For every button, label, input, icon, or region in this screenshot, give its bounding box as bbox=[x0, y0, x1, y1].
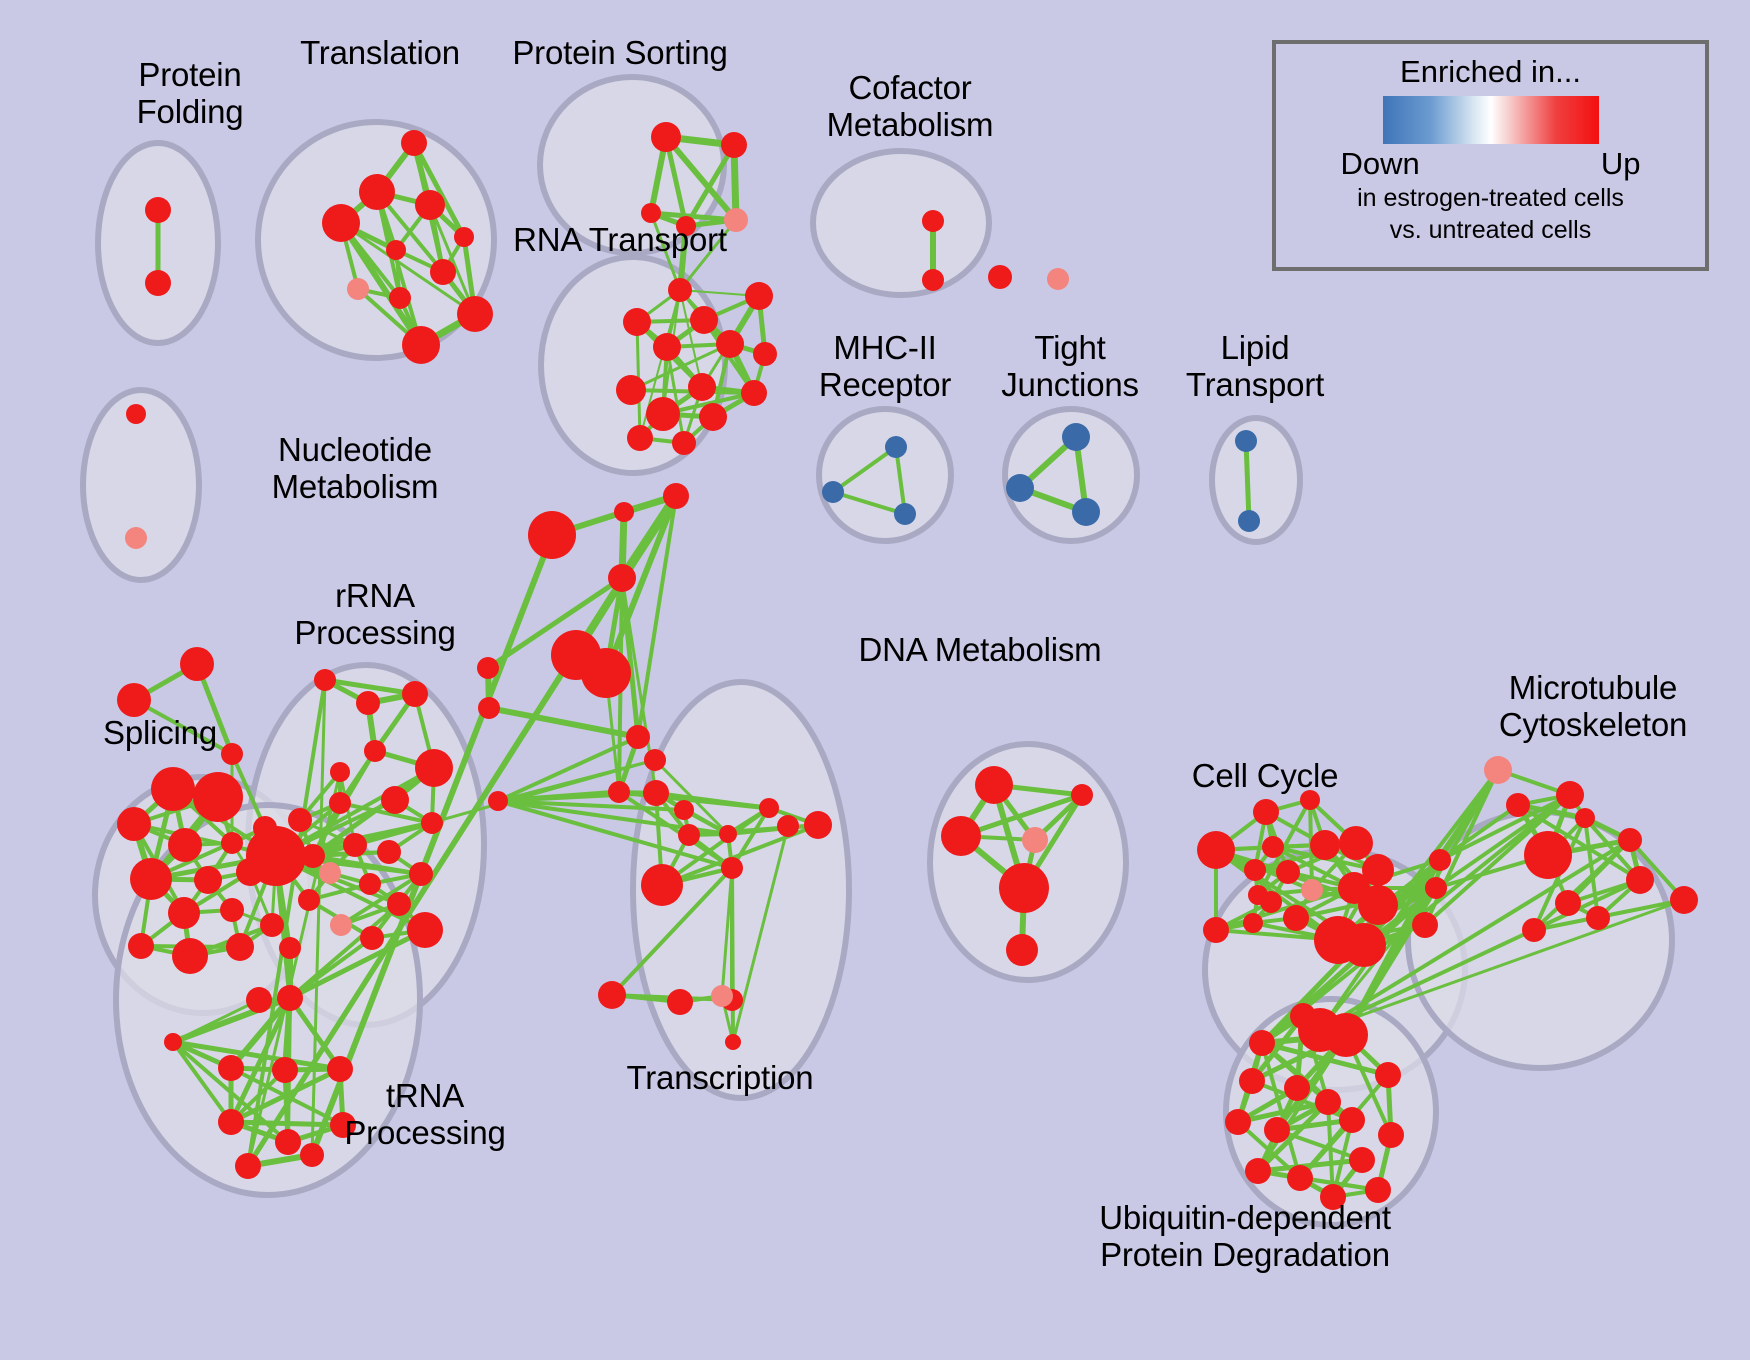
network-node[interactable] bbox=[220, 898, 244, 922]
network-node[interactable] bbox=[145, 197, 171, 223]
network-edge bbox=[489, 708, 638, 737]
network-node[interactable] bbox=[999, 863, 1049, 913]
network-node[interactable] bbox=[1006, 474, 1034, 502]
network-node[interactable] bbox=[1484, 756, 1512, 784]
network-node[interactable] bbox=[1412, 912, 1438, 938]
network-node[interactable] bbox=[421, 812, 443, 834]
network-node[interactable] bbox=[1239, 1068, 1265, 1094]
legend-up-label: Up bbox=[1601, 146, 1641, 182]
network-node[interactable] bbox=[1349, 1147, 1375, 1173]
network-node[interactable] bbox=[1203, 917, 1229, 943]
network-node[interactable] bbox=[300, 1143, 324, 1167]
network-node[interactable] bbox=[623, 308, 651, 336]
network-node[interactable] bbox=[690, 306, 718, 334]
network-node[interactable] bbox=[646, 397, 680, 431]
network-node[interactable] bbox=[1290, 1003, 1316, 1029]
network-node[interactable] bbox=[1524, 831, 1572, 879]
network-node[interactable] bbox=[168, 897, 200, 929]
network-node[interactable] bbox=[777, 815, 799, 837]
network-node[interactable] bbox=[314, 669, 336, 691]
network-node[interactable] bbox=[651, 122, 681, 152]
legend-endpoints: Down Up bbox=[1341, 146, 1641, 182]
network-node[interactable] bbox=[330, 762, 350, 782]
network-node[interactable] bbox=[330, 1112, 356, 1138]
network-node[interactable] bbox=[922, 210, 944, 232]
network-node[interactable] bbox=[1022, 827, 1048, 853]
network-node[interactable] bbox=[193, 772, 243, 822]
network-node[interactable] bbox=[1618, 828, 1642, 852]
network-node[interactable] bbox=[716, 330, 744, 358]
network-node[interactable] bbox=[172, 938, 208, 974]
network-node[interactable] bbox=[1555, 890, 1581, 916]
network-node[interactable] bbox=[804, 811, 832, 839]
network-node[interactable] bbox=[1556, 781, 1584, 809]
network-node[interactable] bbox=[941, 816, 981, 856]
network-node[interactable] bbox=[644, 749, 666, 771]
legend-title: Enriched in... bbox=[1400, 54, 1581, 90]
network-node[interactable] bbox=[741, 380, 767, 406]
network-node[interactable] bbox=[288, 808, 312, 832]
network-node[interactable] bbox=[1506, 793, 1530, 817]
network-node[interactable] bbox=[1358, 885, 1398, 925]
network-node[interactable] bbox=[581, 648, 631, 698]
network-node[interactable] bbox=[641, 203, 661, 223]
network-node[interactable] bbox=[221, 832, 243, 854]
network-node[interactable] bbox=[360, 926, 384, 950]
network-node[interactable] bbox=[663, 483, 689, 509]
network-node[interactable] bbox=[711, 985, 733, 1007]
legend-caption-line-1: in estrogen-treated cells bbox=[1357, 184, 1624, 214]
network-node[interactable] bbox=[885, 436, 907, 458]
network-node[interactable] bbox=[415, 749, 453, 787]
network-node[interactable] bbox=[668, 278, 692, 302]
legend-down-label: Down bbox=[1341, 146, 1420, 182]
network-node[interactable] bbox=[387, 892, 411, 916]
network-node[interactable] bbox=[407, 912, 443, 948]
legend-panel: Enriched in... Down Up in estrogen-treat… bbox=[1272, 40, 1709, 271]
network-edge bbox=[1246, 441, 1249, 521]
network-node[interactable] bbox=[1310, 830, 1340, 860]
network-node[interactable] bbox=[1425, 877, 1447, 899]
network-node[interactable] bbox=[381, 786, 409, 814]
network-node[interactable] bbox=[1378, 1122, 1404, 1148]
network-node[interactable] bbox=[168, 828, 202, 862]
network-node[interactable] bbox=[598, 981, 626, 1009]
network-node[interactable] bbox=[218, 1055, 244, 1081]
network-node[interactable] bbox=[478, 697, 500, 719]
network-node[interactable] bbox=[327, 1056, 353, 1082]
network-node[interactable] bbox=[1238, 510, 1260, 532]
network-node[interactable] bbox=[329, 792, 351, 814]
network-node[interactable] bbox=[975, 766, 1013, 804]
network-node[interactable] bbox=[1342, 923, 1386, 967]
network-node[interactable] bbox=[1315, 1089, 1341, 1115]
network-node[interactable] bbox=[1062, 423, 1090, 451]
network-node[interactable] bbox=[1300, 790, 1320, 810]
network-node[interactable] bbox=[608, 564, 636, 592]
network-node[interactable] bbox=[1301, 879, 1323, 901]
network-node[interactable] bbox=[347, 278, 369, 300]
network-node[interactable] bbox=[699, 403, 727, 431]
network-node[interactable] bbox=[1047, 268, 1069, 290]
network-node[interactable] bbox=[653, 333, 681, 361]
network-node[interactable] bbox=[298, 889, 320, 911]
network-node[interactable] bbox=[1006, 934, 1038, 966]
network-node[interactable] bbox=[1245, 1158, 1271, 1184]
network-node[interactable] bbox=[1260, 891, 1282, 913]
network-node[interactable] bbox=[356, 691, 380, 715]
network-node[interactable] bbox=[643, 780, 669, 806]
network-node[interactable] bbox=[1522, 918, 1546, 942]
network-node[interactable] bbox=[272, 1057, 298, 1083]
network-node[interactable] bbox=[218, 1109, 244, 1135]
network-node[interactable] bbox=[415, 190, 445, 220]
network-node[interactable] bbox=[454, 227, 474, 247]
cluster-hull-cofactor-metabolism bbox=[813, 151, 989, 295]
network-node[interactable] bbox=[125, 527, 147, 549]
network-node[interactable] bbox=[359, 873, 381, 895]
network-node[interactable] bbox=[1284, 1075, 1310, 1101]
network-node[interactable] bbox=[488, 791, 508, 811]
network-figure: Protein FoldingTranslationProtein Sortin… bbox=[0, 0, 1750, 1360]
network-node[interactable] bbox=[226, 933, 254, 961]
cluster-hull-mhc-ii-receptor bbox=[819, 409, 951, 541]
network-node[interactable] bbox=[1287, 1165, 1313, 1191]
legend-color-gradient bbox=[1383, 96, 1599, 144]
network-node[interactable] bbox=[386, 240, 406, 260]
network-node[interactable] bbox=[614, 502, 634, 522]
network-node[interactable] bbox=[430, 259, 456, 285]
network-node[interactable] bbox=[1339, 1107, 1365, 1133]
network-node[interactable] bbox=[1264, 1117, 1290, 1143]
network-node[interactable] bbox=[641, 864, 683, 906]
network-node[interactable] bbox=[322, 204, 360, 242]
network-node[interactable] bbox=[1324, 1013, 1368, 1057]
network-node[interactable] bbox=[616, 375, 646, 405]
network-node[interactable] bbox=[894, 503, 916, 525]
network-node[interactable] bbox=[608, 781, 630, 803]
network-node[interactable] bbox=[151, 767, 195, 811]
network-node[interactable] bbox=[528, 511, 576, 559]
network-node[interactable] bbox=[724, 208, 748, 232]
network-node[interactable] bbox=[180, 647, 214, 681]
network-node[interactable] bbox=[117, 807, 151, 841]
network-node[interactable] bbox=[477, 657, 499, 679]
network-node[interactable] bbox=[343, 833, 367, 857]
network-node[interactable] bbox=[721, 132, 747, 158]
network-node[interactable] bbox=[221, 743, 243, 765]
network-node[interactable] bbox=[145, 270, 171, 296]
network-node[interactable] bbox=[1253, 799, 1279, 825]
network-node[interactable] bbox=[721, 857, 743, 879]
network-node[interactable] bbox=[330, 914, 352, 936]
network-node[interactable] bbox=[279, 937, 301, 959]
network-node[interactable] bbox=[359, 174, 395, 210]
network-node[interactable] bbox=[194, 866, 222, 894]
network-node[interactable] bbox=[128, 933, 154, 959]
network-node[interactable] bbox=[1339, 826, 1373, 860]
network-node[interactable] bbox=[922, 269, 944, 291]
network-node[interactable] bbox=[126, 404, 146, 424]
network-node[interactable] bbox=[667, 989, 693, 1015]
network-node[interactable] bbox=[753, 342, 777, 366]
network-node[interactable] bbox=[1071, 784, 1093, 806]
network-node[interactable] bbox=[1244, 859, 1266, 881]
network-node[interactable] bbox=[1197, 831, 1235, 869]
network-node[interactable] bbox=[1072, 498, 1100, 526]
network-node[interactable] bbox=[1586, 906, 1610, 930]
network-node[interactable] bbox=[1375, 1062, 1401, 1088]
network-node[interactable] bbox=[1262, 836, 1284, 858]
network-node[interactable] bbox=[676, 216, 696, 236]
network-node[interactable] bbox=[822, 481, 844, 503]
network-node[interactable] bbox=[1626, 866, 1654, 894]
network-node[interactable] bbox=[117, 683, 151, 717]
network-node[interactable] bbox=[674, 800, 694, 820]
network-node[interactable] bbox=[1670, 886, 1698, 914]
network-node[interactable] bbox=[319, 862, 341, 884]
network-node[interactable] bbox=[719, 825, 737, 843]
network-node[interactable] bbox=[389, 287, 411, 309]
network-node[interactable] bbox=[627, 425, 653, 451]
network-node[interactable] bbox=[678, 824, 700, 846]
network-node[interactable] bbox=[1249, 1030, 1275, 1056]
network-node[interactable] bbox=[402, 326, 440, 364]
network-node[interactable] bbox=[164, 1033, 182, 1051]
network-node[interactable] bbox=[672, 431, 696, 455]
network-node[interactable] bbox=[988, 265, 1012, 289]
network-node[interactable] bbox=[402, 681, 428, 707]
network-node[interactable] bbox=[130, 858, 172, 900]
network-node[interactable] bbox=[759, 798, 779, 818]
network-node[interactable] bbox=[277, 985, 303, 1011]
network-node[interactable] bbox=[1429, 849, 1451, 871]
network-node[interactable] bbox=[457, 296, 493, 332]
network-node[interactable] bbox=[1575, 808, 1595, 828]
network-node[interactable] bbox=[1235, 430, 1257, 452]
network-node[interactable] bbox=[409, 862, 433, 886]
network-node[interactable] bbox=[275, 1129, 301, 1155]
network-node[interactable] bbox=[745, 282, 773, 310]
network-node[interactable] bbox=[246, 826, 306, 886]
network-node[interactable] bbox=[1365, 1177, 1391, 1203]
legend-caption-line-2: vs. untreated cells bbox=[1390, 216, 1592, 246]
network-node[interactable] bbox=[1283, 905, 1309, 931]
network-node[interactable] bbox=[1320, 1184, 1346, 1210]
network-node[interactable] bbox=[260, 913, 284, 937]
network-node[interactable] bbox=[246, 987, 272, 1013]
network-node[interactable] bbox=[1225, 1109, 1251, 1135]
network-node[interactable] bbox=[1243, 913, 1263, 933]
network-node[interactable] bbox=[377, 840, 401, 864]
network-node[interactable] bbox=[235, 1153, 261, 1179]
network-node[interactable] bbox=[626, 725, 650, 749]
network-node[interactable] bbox=[1276, 860, 1300, 884]
network-node[interactable] bbox=[725, 1034, 741, 1050]
network-node[interactable] bbox=[688, 373, 716, 401]
network-node[interactable] bbox=[364, 740, 386, 762]
network-node[interactable] bbox=[401, 130, 427, 156]
